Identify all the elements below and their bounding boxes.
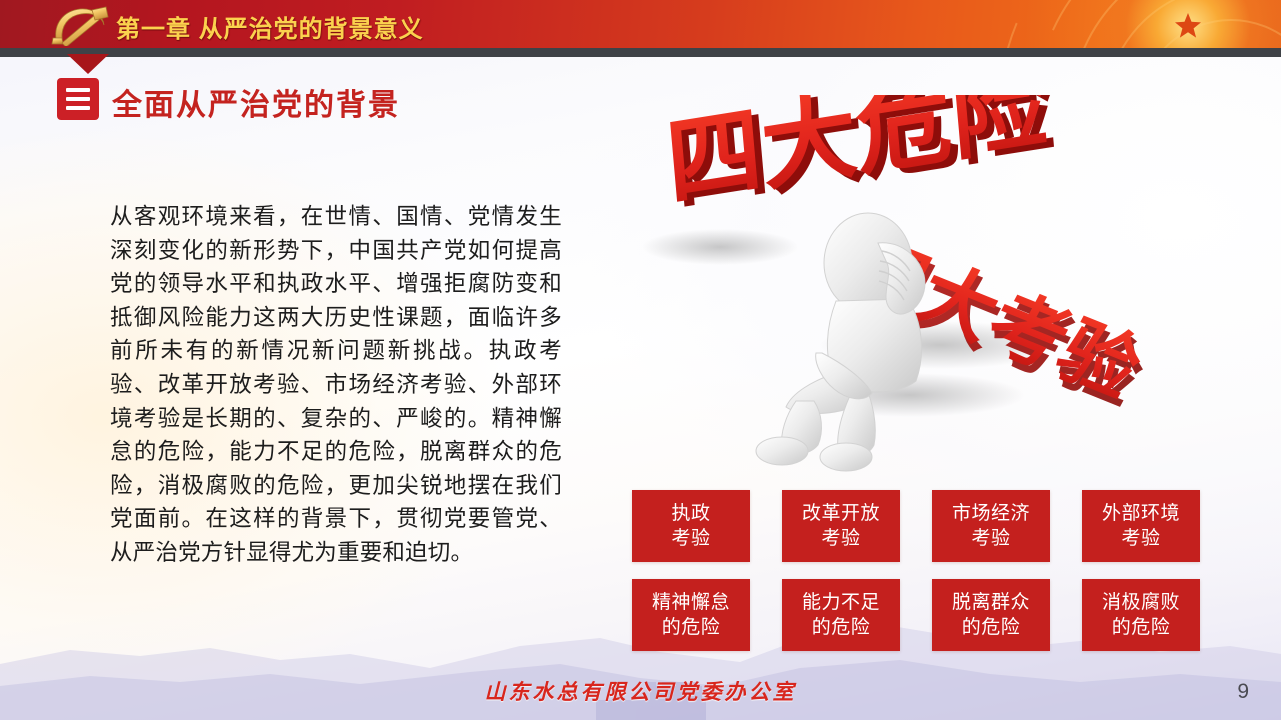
bar-3 bbox=[66, 106, 90, 110]
label-waibu-huanjing-kaoyan[interactable]: 外部环境 考验 bbox=[1082, 490, 1200, 562]
three-bars-icon bbox=[57, 78, 99, 120]
five-point-star-icon bbox=[1175, 13, 1201, 38]
chapter-title: 第一章 从严治党的背景意义 bbox=[116, 9, 424, 44]
body-paragraph: 从客观环境来看，在世情、国情、党情发生深刻变化的新形势下，中国共产党如何提高党的… bbox=[110, 200, 562, 570]
section-heading: 全面从严治党的背景 bbox=[112, 80, 400, 124]
page-number: 9 bbox=[1237, 680, 1249, 704]
bar-1 bbox=[66, 88, 90, 92]
bar-2 bbox=[66, 97, 90, 101]
label-nengli-buzu-weixian[interactable]: 能力不足 的危险 bbox=[782, 579, 900, 651]
party-hammer-sickle-emblem-icon bbox=[38, 3, 122, 46]
label-tuoli-qunzhong-weixian[interactable]: 脱离群众 的危险 bbox=[932, 579, 1050, 651]
label-gaige-kaifang-kaoyan[interactable]: 改革开放 考验 bbox=[782, 490, 900, 562]
organization-footer: 山东水总有限公司党委办公室 bbox=[0, 676, 1281, 706]
label-zhizheng-kaoyan[interactable]: 执政 考验 bbox=[632, 490, 750, 562]
label-jingshen-xiedai-weixian[interactable]: 精神懈怠 的危险 bbox=[632, 579, 750, 651]
three-d-illustration: 四大考验 四大考验 四大危险 四大危险 bbox=[610, 95, 1250, 485]
radiating-rings-decoration bbox=[901, 0, 1281, 48]
svg-text:四大危险: 四大危险 bbox=[662, 95, 1052, 220]
slide-canvas: 第一章 从严治党的背景意义 全面从严治党的背景 从客观环境来看，在世情、国情、党… bbox=[0, 0, 1281, 720]
label-xiaoji-fubai-weixian[interactable]: 消极腐败 的危险 bbox=[1082, 579, 1200, 651]
label-shichang-jingji-kaoyan[interactable]: 市场经济 考验 bbox=[932, 490, 1050, 562]
header-divider-bar bbox=[0, 48, 1281, 57]
risk-and-test-label-grid: 执政 考验 改革开放 考验 市场经济 考验 外部环境 考验 精神懈怠 的危险 能… bbox=[632, 490, 1200, 651]
down-triangle-icon bbox=[67, 54, 109, 74]
chapter-header-bar: 第一章 从严治党的背景意义 bbox=[0, 0, 1281, 48]
